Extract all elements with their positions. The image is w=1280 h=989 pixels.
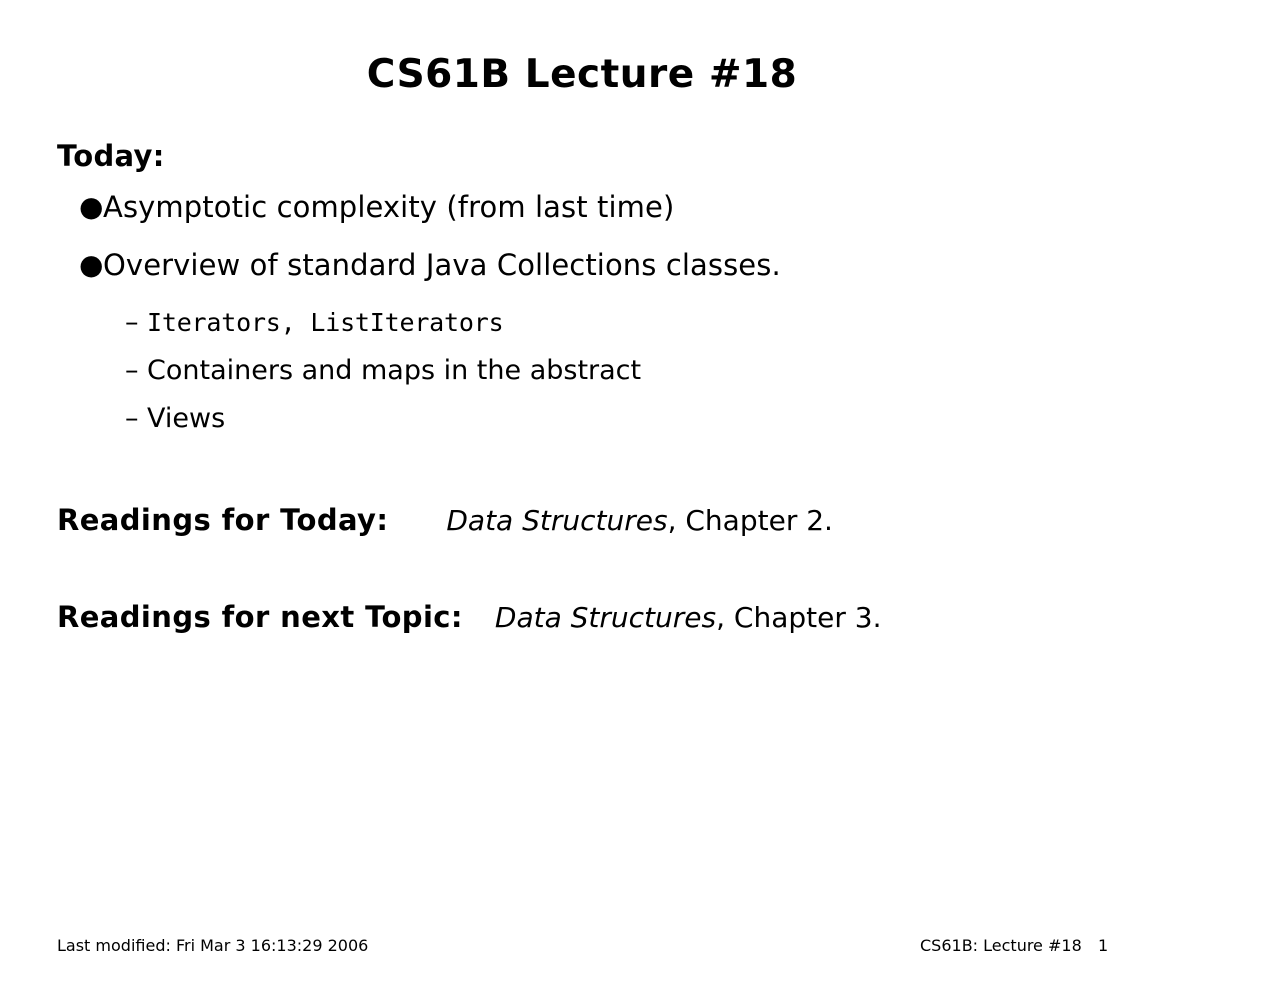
chapter-ref: , Chapter 3. xyxy=(716,601,881,634)
chapter-ref: , Chapter 2. xyxy=(668,504,833,537)
slide-body: Today: ● Asymptotic complexity (from las… xyxy=(57,138,1237,438)
readings-next-value: Data Structures, Chapter 3. xyxy=(495,598,882,638)
last-modified-text: Last modified: Fri Mar 3 16:13:29 2006 xyxy=(57,935,368,957)
bullet-dot-icon: ● xyxy=(79,246,103,284)
list-item: – Containers and maps in the abstract xyxy=(57,352,1237,390)
list-item: – Iterators, ListIterators xyxy=(57,304,1237,342)
sub-bullet-list: – Iterators, ListIterators – Containers … xyxy=(57,304,1237,438)
bullet-dot-icon: ● xyxy=(79,188,103,226)
slide-footer: Last modified: Fri Mar 3 16:13:29 2006 C… xyxy=(0,935,1280,965)
book-title: Data Structures xyxy=(495,601,716,634)
slide-canvas: CS61B Lecture #18 Today: ● Asymptotic co… xyxy=(0,0,1280,989)
sub-bullet-label: Containers and maps in the abstract xyxy=(147,352,1237,390)
page-number: 1 xyxy=(1098,935,1108,957)
course-lecture-text: CS61B: Lecture #18 xyxy=(920,935,1082,957)
book-title: Data Structures xyxy=(446,504,667,537)
readings-today-value: Data Structures, Chapter 2. xyxy=(446,501,833,541)
readings-today-block: Readings for Today: Data Structures, Cha… xyxy=(57,500,1237,541)
bullet-label: Overview of standard Java Collections cl… xyxy=(103,246,1237,284)
list-item: – Views xyxy=(57,400,1237,438)
dash-icon: – xyxy=(125,304,147,342)
sub-bullet-label: Views xyxy=(147,400,1237,438)
readings-next-block: Readings for next Topic: Data Structures… xyxy=(57,597,1237,638)
dash-icon: – xyxy=(125,400,147,438)
bullet-label: Asymptotic complexity (from last time) xyxy=(103,188,1237,226)
readings-today-label: Readings for Today: xyxy=(57,500,388,540)
list-item: ● Overview of standard Java Collections … xyxy=(57,246,1237,284)
sub-bullet-label: Iterators, ListIterators xyxy=(147,304,1237,342)
today-heading: Today: xyxy=(57,138,1237,174)
readings-next-label: Readings for next Topic: xyxy=(57,597,463,637)
list-item: ● Asymptotic complexity (from last time) xyxy=(57,188,1237,226)
dash-icon: – xyxy=(125,352,147,390)
page-title: CS61B Lecture #18 xyxy=(0,52,1164,98)
